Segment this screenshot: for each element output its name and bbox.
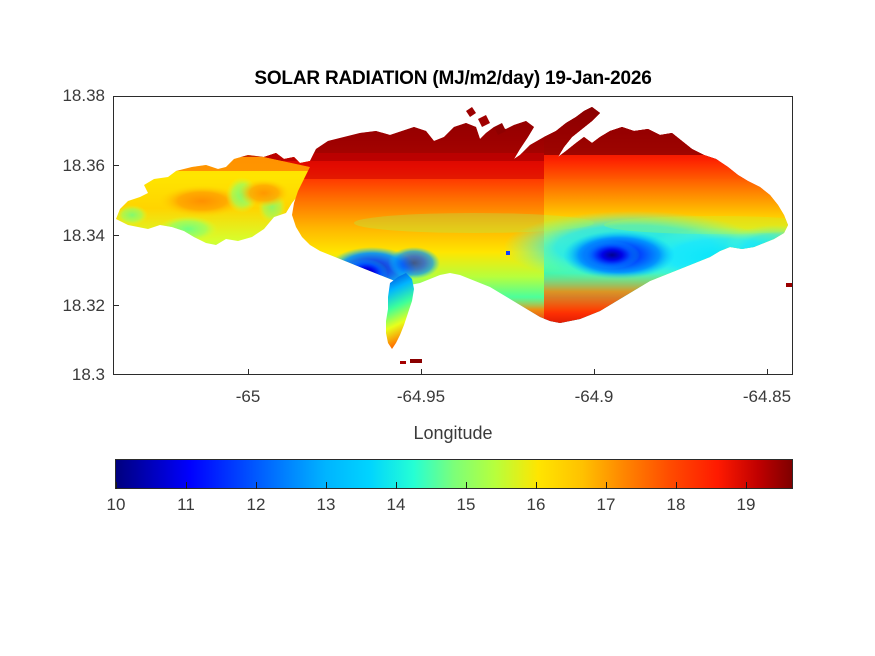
colorbar-gradient (115, 459, 793, 489)
ytick-label-18-32: 18.32 (15, 296, 105, 316)
colorbar-label-10: 10 (86, 495, 146, 515)
xtick-mark (248, 369, 249, 375)
colorbar-tick (186, 482, 187, 489)
ytick-mark (113, 374, 119, 375)
colorbar-label-19: 19 (716, 495, 776, 515)
colorbar-tick (256, 482, 257, 489)
colorbar-tick (116, 482, 117, 489)
xtick-label-minus-64-9: -64.9 (539, 387, 649, 407)
colorbar-label-15: 15 (436, 495, 496, 515)
colorbar-tick (676, 482, 677, 489)
map-region-south-islet (374, 267, 434, 362)
colorbar-tick (606, 482, 607, 489)
colorbar-label-14: 14 (366, 495, 426, 515)
xtick-label-minus-65: -65 (193, 387, 303, 407)
colorbar-tick (536, 482, 537, 489)
colorbar (115, 459, 793, 489)
ytick-mark (113, 305, 119, 306)
colorbar-tick (326, 482, 327, 489)
solar-radiation-figure: SOLAR RADIATION (MJ/m2/day) 19-Jan-2026 (0, 0, 875, 656)
xtick-label-minus-64-85: -64.85 (712, 387, 822, 407)
ytick-label-18-36: 18.36 (15, 156, 105, 176)
page-title: SOLAR RADIATION (MJ/m2/day) 19-Jan-2026 (113, 68, 793, 90)
xtick-label-minus-64-95: -64.95 (366, 387, 476, 407)
colorbar-label-17: 17 (576, 495, 636, 515)
colorbar-label-16: 16 (506, 495, 566, 515)
colorbar-label-11: 11 (156, 495, 216, 515)
xtick-mark (421, 369, 422, 375)
colorbar-tick (466, 482, 467, 489)
colorbar-label-18: 18 (646, 495, 706, 515)
colorbar-label-12: 12 (226, 495, 286, 515)
map-region-main (254, 97, 792, 347)
ytick-label-18-34: 18.34 (15, 226, 105, 246)
colorbar-label-13: 13 (296, 495, 356, 515)
colorbar-tick (396, 482, 397, 489)
ytick-mark (113, 165, 119, 166)
solar-radiation-contour-map (114, 97, 792, 374)
x-axis-label: Longitude (113, 423, 793, 444)
ytick-mark (113, 235, 119, 236)
ytick-label-18-3: 18.3 (15, 365, 105, 385)
ytick-mark (113, 96, 119, 97)
ytick-label-18-38: 18.38 (15, 86, 105, 106)
xtick-mark (594, 369, 595, 375)
map-axes (113, 96, 793, 375)
colorbar-tick (746, 482, 747, 489)
xtick-mark (767, 369, 768, 375)
